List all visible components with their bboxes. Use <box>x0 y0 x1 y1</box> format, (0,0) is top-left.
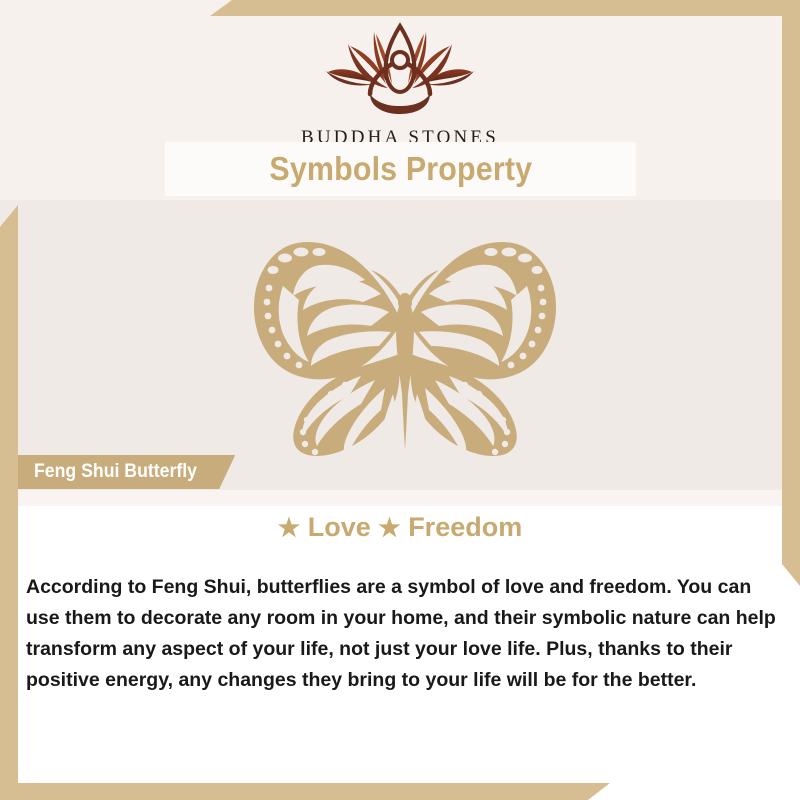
section-headline: ★ Love ★ Freedom <box>0 512 800 543</box>
body-paragraph: According to Feng Shui, butterflies are … <box>26 572 778 696</box>
star-icon-middle: ★ <box>378 514 400 542</box>
brand-logo: BUDDHA STONES <box>0 22 800 149</box>
label-text: Feng Shui Butterfly <box>34 461 197 483</box>
title-banner: Symbols Property <box>165 142 636 196</box>
infographic-page: BUDDHA STONES Symbols Property <box>0 0 800 800</box>
decorative-frame-top <box>210 0 800 16</box>
status-badge: Feng Shui Butterfly <box>18 455 235 489</box>
decorative-frame-left <box>0 205 18 785</box>
background-band-fade <box>0 490 800 506</box>
star-icon-left: ★ <box>278 514 300 542</box>
butterfly-icon <box>215 228 595 456</box>
lotus-meditation-icon <box>0 22 800 123</box>
decorative-frame-bottom <box>0 783 610 800</box>
page-title: Symbols Property <box>269 150 532 188</box>
headline-word-one: Love <box>308 512 371 542</box>
headline-word-two: Freedom <box>408 512 522 542</box>
